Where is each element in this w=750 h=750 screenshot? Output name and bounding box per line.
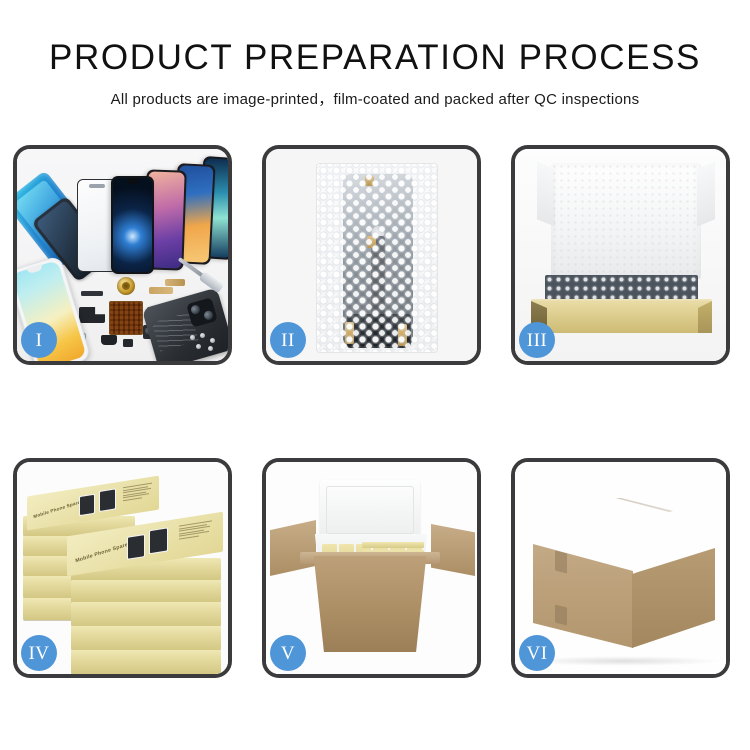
carton-front-face: [533, 544, 633, 648]
chip-icon: [123, 339, 133, 347]
process-step-6[interactable]: VI: [511, 458, 730, 678]
process-step-grid: I II: [13, 145, 735, 723]
foam-lid-icon: [320, 480, 420, 540]
flex-cable-1-icon: [79, 307, 105, 323]
step-badge-4: IV: [21, 635, 57, 671]
box-phone-thumb-icon: [127, 534, 145, 560]
page-title: PRODUCT PREPARATION PROCESS: [0, 36, 750, 80]
box-spec-lines: [123, 482, 153, 502]
foam-sheet-icon: [551, 163, 701, 279]
process-step-2[interactable]: II: [262, 145, 481, 365]
page-subtitle: All products are image-printed，film-coat…: [0, 88, 750, 109]
box-phone-thumb-icon: [99, 488, 116, 512]
process-step-3[interactable]: III: [511, 145, 730, 365]
carton-flap-right-icon: [431, 524, 475, 576]
box-spec-lines: [179, 520, 213, 541]
flex-cable-3-icon: [149, 287, 173, 294]
product-preparation-infographic: PRODUCT PREPARATION PROCESS All products…: [0, 0, 750, 750]
carton-tape-top-icon: [555, 551, 567, 574]
bubble-texture: [317, 164, 437, 352]
box-phone-thumb-icon: [79, 494, 95, 517]
process-step-1[interactable]: I: [13, 145, 232, 365]
header: PRODUCT PREPARATION PROCESS All products…: [0, 0, 750, 109]
kraft-tray-icon: [531, 301, 712, 333]
process-step-5[interactable]: V: [262, 458, 481, 678]
glass-notch-icon: [89, 184, 105, 188]
carton-side-face: [632, 548, 715, 648]
box-phone-thumb-icon: [149, 527, 168, 554]
speaker-module-icon: [101, 335, 117, 345]
process-step-4[interactable]: Mobile Phone Spare Parts: [13, 458, 232, 678]
step-badge-6: VI: [519, 635, 555, 671]
retail-box-slab: [71, 650, 221, 674]
retail-box-slab: [71, 602, 221, 626]
sealed-carton-icon: [533, 490, 715, 648]
step-badge-5: V: [270, 635, 306, 671]
screw-map-icon: [109, 301, 143, 335]
speaker-strip-icon: [81, 291, 103, 296]
coil-component-icon: [117, 277, 135, 295]
step-badge-2: II: [270, 322, 306, 358]
retail-box-slab: [71, 580, 221, 602]
retail-box-slab: [71, 626, 221, 650]
carton-body-icon: [306, 556, 434, 652]
flex-cable-4-icon: [165, 279, 185, 286]
bubble-wrap-bag-icon: [316, 163, 438, 353]
step-badge-1: I: [21, 322, 57, 358]
carton-tape-bottom-icon: [555, 605, 567, 626]
phone-display-1-icon: [111, 176, 154, 274]
screws-icon: [188, 333, 222, 351]
step-badge-3: III: [519, 322, 555, 358]
